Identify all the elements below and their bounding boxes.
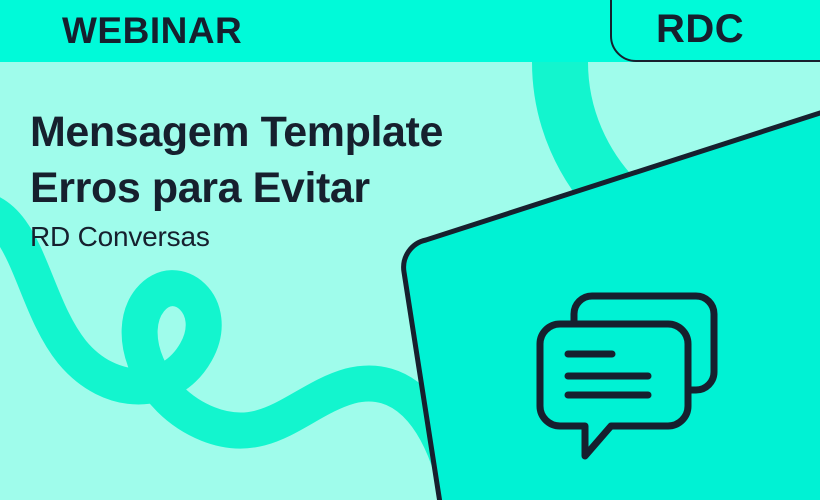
title-block: Mensagem Template Erros para Evitar RD C… — [30, 104, 443, 254]
title-line-1: Mensagem Template — [30, 104, 443, 160]
arc-swoosh-icon — [560, 62, 820, 262]
chat-bubbles-icon — [536, 282, 726, 462]
subtitle: RD Conversas — [30, 220, 443, 254]
title-line-2: Erros para Evitar — [30, 160, 443, 216]
brand-badge-label: RDC — [656, 3, 744, 55]
webinar-banner: WEBINAR RDC Mensagem Template Erros para… — [0, 0, 820, 500]
webinar-label: WEBINAR — [62, 6, 242, 56]
